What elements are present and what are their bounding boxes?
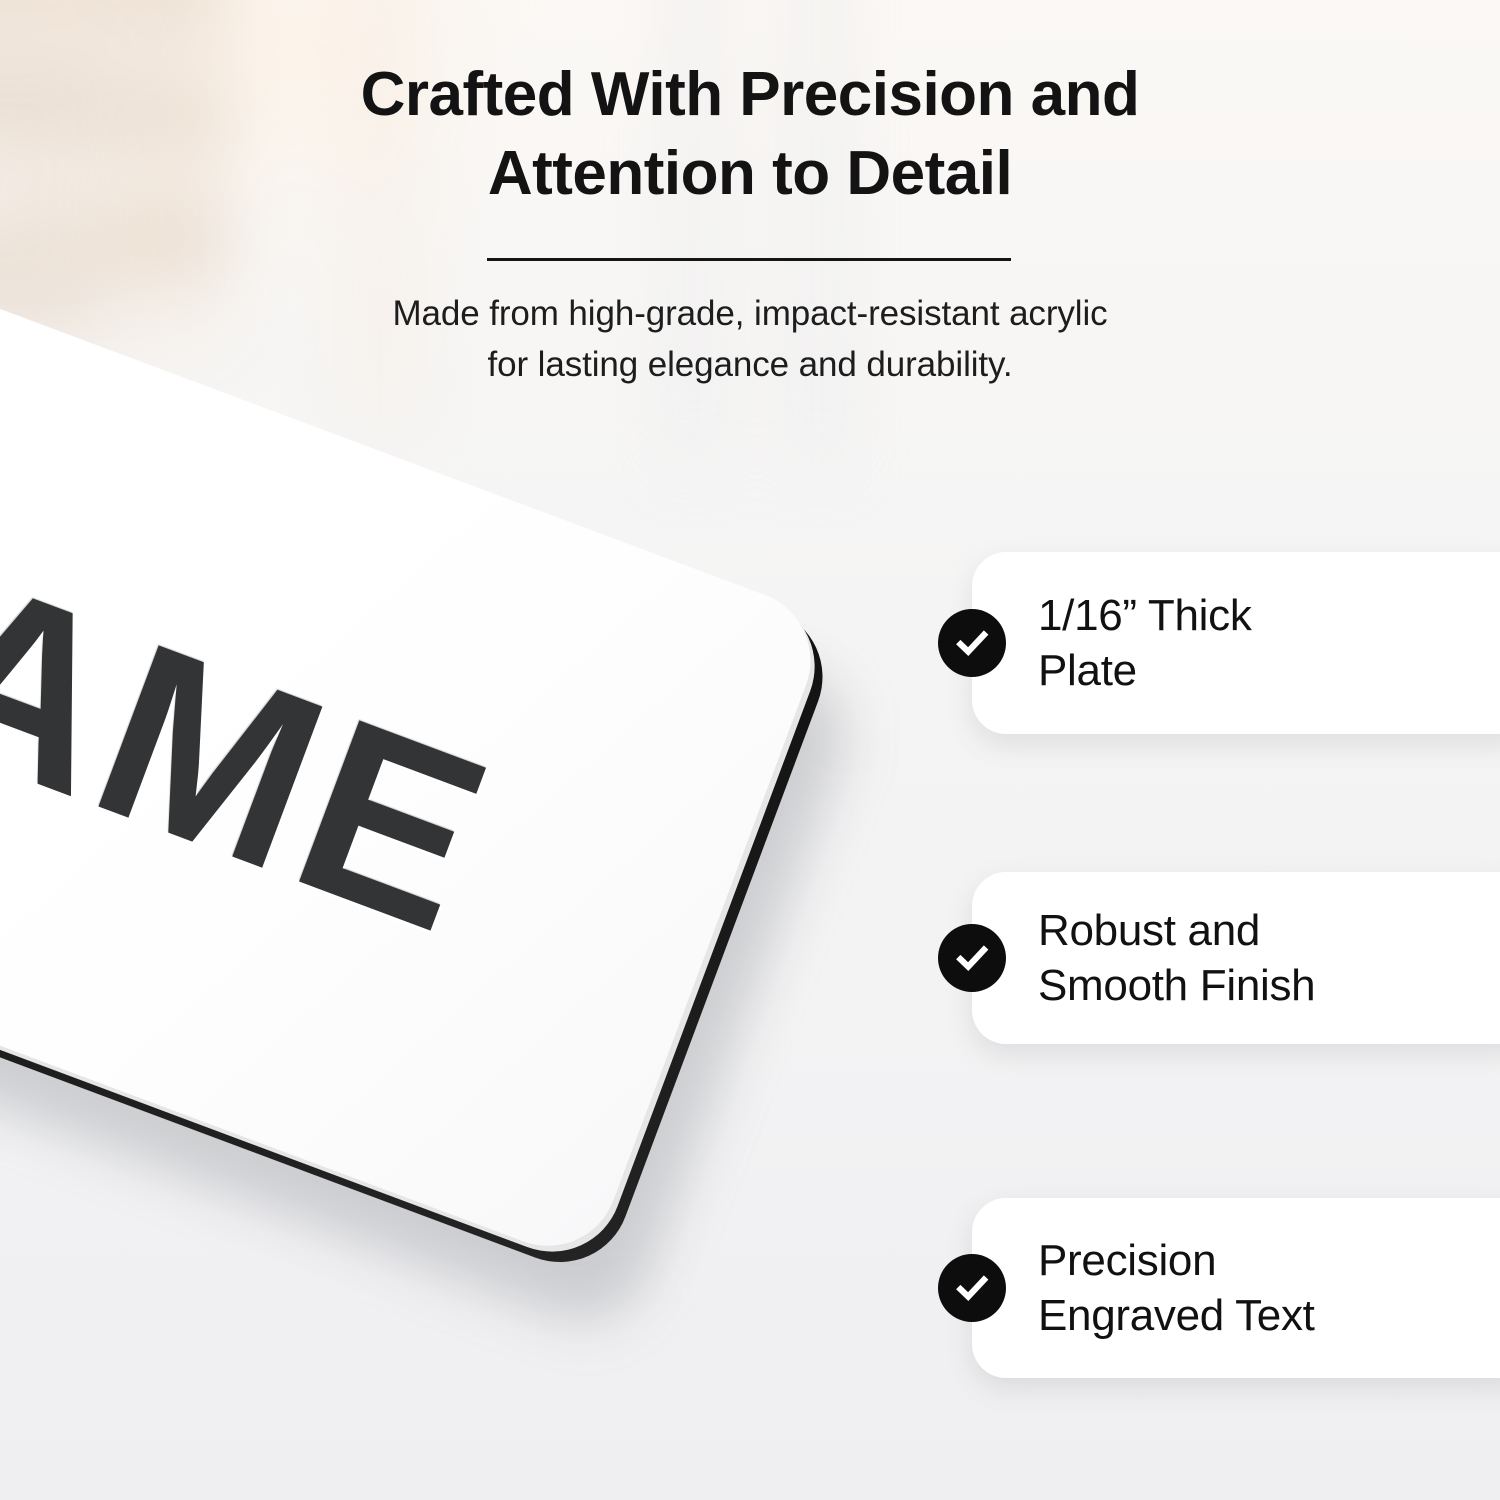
headline-line-2: Attention to Detail <box>180 134 1320 213</box>
headline-line-1: Crafted With Precision and <box>180 55 1320 134</box>
page-title: Crafted With Precision and Attention to … <box>180 55 1320 214</box>
subhead-line-1: Made from high-grade, impact-resistant a… <box>250 288 1250 339</box>
feature-badge[interactable]: Robust and Smooth Finish <box>972 872 1500 1044</box>
feature-badge-label: Robust and Smooth Finish <box>1038 903 1315 1014</box>
title-divider <box>487 258 1011 261</box>
background-shelf-interior <box>0 70 100 330</box>
feature-badge-label: 1/16” Thick Plate <box>1038 588 1252 699</box>
page-subtitle: Made from high-grade, impact-resistant a… <box>250 288 1250 390</box>
check-circle-icon <box>938 609 1006 677</box>
check-circle-icon <box>938 924 1006 992</box>
feature-badge-label: Precision Engraved Text <box>1038 1233 1315 1344</box>
feature-badge[interactable]: 1/16” Thick Plate <box>972 552 1500 734</box>
product-feature-graphic: NAME Crafted With Precision and Attentio… <box>0 0 1500 1500</box>
feature-badge[interactable]: Precision Engraved Text <box>972 1198 1500 1378</box>
subhead-line-2: for lasting elegance and durability. <box>250 339 1250 390</box>
check-circle-icon <box>938 1254 1006 1322</box>
